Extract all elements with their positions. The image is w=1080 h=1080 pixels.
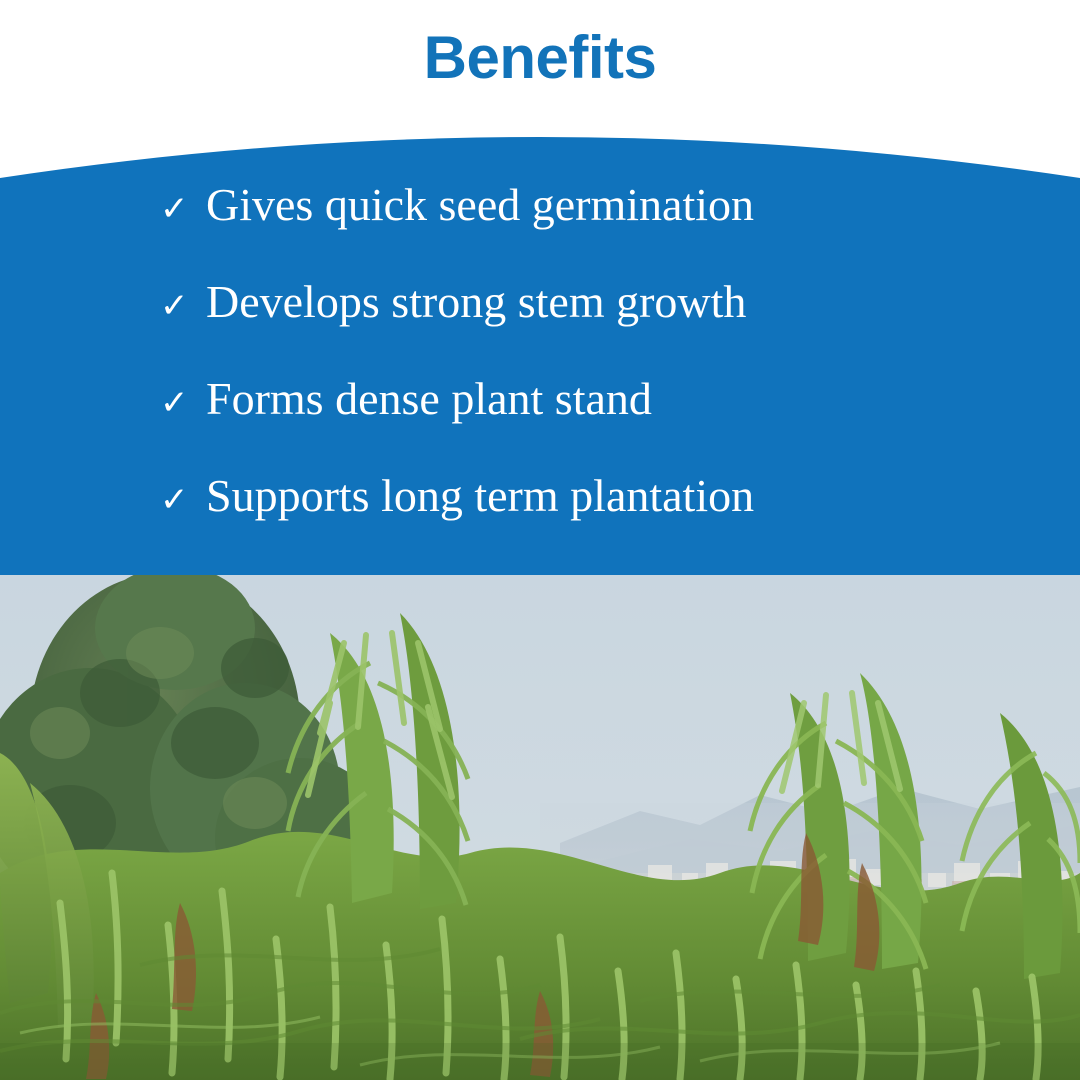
check-icon: ✓ xyxy=(160,192,206,226)
list-item: ✓ Develops strong stem growth xyxy=(160,279,1080,376)
title-area: Benefits xyxy=(0,0,1080,116)
benefits-panel: ✓ Gives quick seed germination ✓ Develop… xyxy=(0,110,1080,575)
page-title: Benefits xyxy=(424,28,657,88)
photo-artwork xyxy=(0,573,1080,1080)
list-item: ✓ Forms dense plant stand xyxy=(160,376,1080,473)
photo-foliage-cityscape xyxy=(0,573,1080,1080)
check-icon: ✓ xyxy=(160,386,206,420)
benefits-infographic-card: Benefits ✓ Gives quick seed germination … xyxy=(0,0,1080,1080)
check-icon: ✓ xyxy=(160,483,206,517)
benefit-label: Supports long term plantation xyxy=(206,473,754,519)
benefit-label: Develops strong stem growth xyxy=(206,279,746,325)
benefits-list: ✓ Gives quick seed germination ✓ Develop… xyxy=(0,110,1080,575)
benefit-label: Gives quick seed germination xyxy=(206,182,754,228)
check-icon: ✓ xyxy=(160,289,206,323)
benefit-label: Forms dense plant stand xyxy=(206,376,652,422)
list-item: ✓ Gives quick seed germination xyxy=(160,182,1080,279)
list-item: ✓ Supports long term plantation xyxy=(160,473,1080,570)
